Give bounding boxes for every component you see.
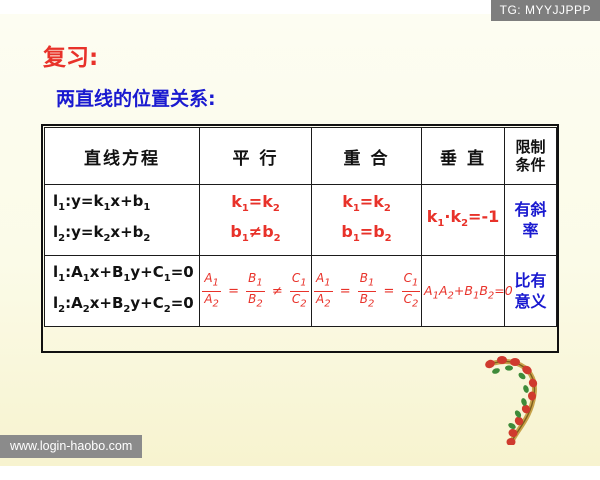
equation-l2-slope: l2:y=k2x+b2 bbox=[53, 223, 150, 241]
url-watermark: www.login-haobo.com bbox=[0, 435, 142, 458]
perpendicular-general-expression: A1A2+B1B2=0 bbox=[424, 283, 513, 298]
table-row: l1:A1x+B1y+C1=0 l2:A2x+B2y+C2=0 A1A2 = B… bbox=[45, 256, 557, 327]
cell-perpendicular-general: A1A2+B1B2=0 bbox=[422, 256, 505, 327]
header-condition: 限制条件 bbox=[505, 128, 557, 185]
cell-condition-slope: 有斜率 bbox=[505, 185, 557, 256]
cell-parallel-slope: k1=k2 b1≠b2 bbox=[200, 185, 312, 256]
table-header-row: 直线方程 平 行 重 合 垂 直 限制条件 bbox=[45, 128, 557, 185]
header-equation: 直线方程 bbox=[45, 128, 200, 185]
coincide-condition-1: k1=k2 bbox=[342, 192, 391, 211]
parallel-condition-2: b1≠b2 bbox=[230, 222, 280, 241]
parallel-condition-1: k1=k2 bbox=[231, 192, 280, 211]
decorative-plant-icon bbox=[476, 355, 546, 445]
perpendicular-condition-slope: k1·k2=-1 bbox=[427, 207, 499, 226]
cell-equation-general-form: l1:A1x+B1y+C1=0 l2:A2x+B2y+C2=0 bbox=[45, 256, 200, 327]
equation-l2-general: l2:A2x+B2y+C2=0 bbox=[53, 294, 194, 312]
equation-l1-general: l1:A1x+B1y+C1=0 bbox=[53, 263, 194, 281]
relations-table: 直线方程 平 行 重 合 垂 直 限制条件 l1:y=k1x+b1 l2:y=k… bbox=[44, 127, 557, 327]
page-title: 复习: bbox=[43, 38, 98, 72]
cell-parallel-general: A1A2 = B1B2 ≠ C1C2 bbox=[200, 256, 312, 327]
cell-coincide-slope: k1=k2 b1=b2 bbox=[312, 185, 422, 256]
cell-perpendicular-slope: k1·k2=-1 bbox=[422, 185, 505, 256]
parallel-general-expression: A1A2 = B1B2 ≠ C1C2 bbox=[202, 284, 308, 299]
cell-equation-slope-form: l1:y=k1x+b1 l2:y=k2x+b2 bbox=[45, 185, 200, 256]
table-row: l1:y=k1x+b1 l2:y=k2x+b2 k1=k2 b1≠b2 k1=k… bbox=[45, 185, 557, 256]
coincide-condition-2: b1=b2 bbox=[341, 222, 391, 241]
header-parallel: 平 行 bbox=[200, 128, 312, 185]
equation-l1-slope: l1:y=k1x+b1 bbox=[53, 192, 150, 210]
header-coincide: 重 合 bbox=[312, 128, 422, 185]
page-subtitle: 两直线的位置关系: bbox=[56, 84, 216, 111]
cell-coincide-general: A1A2 = B1B2 = C1C2 bbox=[312, 256, 422, 327]
telegram-watermark: TG: MYYJJPPP bbox=[491, 0, 600, 21]
header-perpendicular: 垂 直 bbox=[422, 128, 505, 185]
coincide-general-expression: A1A2 = B1B2 = C1C2 bbox=[314, 284, 420, 299]
